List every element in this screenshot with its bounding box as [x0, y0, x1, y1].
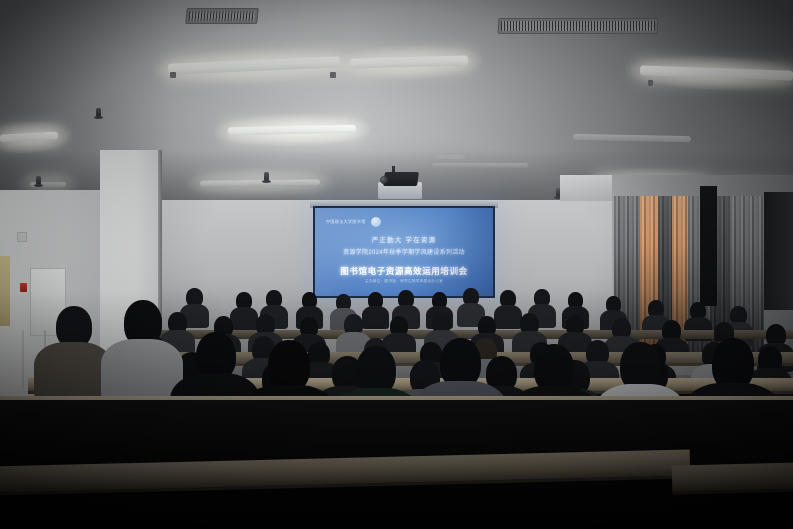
wall-outlet-plate	[17, 232, 27, 242]
light-mount	[648, 80, 653, 86]
ceiling-light-tube	[228, 125, 356, 136]
ceiling-light-tube	[168, 56, 340, 74]
ceiling-light-tube	[640, 65, 793, 80]
ceiling-light-tube	[0, 131, 58, 142]
left-wall-accent-strip	[0, 256, 10, 326]
flipchart-leg	[22, 330, 24, 388]
sprinkler-head	[264, 172, 269, 181]
sprinkler-head	[36, 176, 41, 185]
air-vent	[185, 8, 259, 24]
projector-lens	[380, 176, 388, 184]
sprinkler-head	[96, 108, 101, 117]
fire-alarm-call-point[interactable]	[20, 283, 27, 292]
projection-screen: 中国政法大学图书馆 严正勤大 学在资源 资源学院2024年秋季学期学风建设系列活…	[313, 206, 495, 298]
projected-slide: 中国政法大学图书馆 严正勤大 学在资源 资源学院2024年秋季学期学风建设系列活…	[315, 208, 493, 296]
light-mount	[330, 72, 336, 78]
lecture-room-photo: 中国政法大学图书馆 严正勤大 学在资源 资源学院2024年秋季学期学风建设系列活…	[0, 0, 793, 529]
projector-body	[383, 172, 419, 186]
screen-glare	[315, 208, 493, 296]
table-row-foreground-top	[672, 462, 793, 491]
right-corner-dark	[764, 192, 793, 310]
light-mount	[170, 72, 176, 78]
ceiling-light-tube	[350, 55, 468, 68]
air-vent	[498, 18, 659, 34]
doorway-dark	[700, 186, 717, 306]
